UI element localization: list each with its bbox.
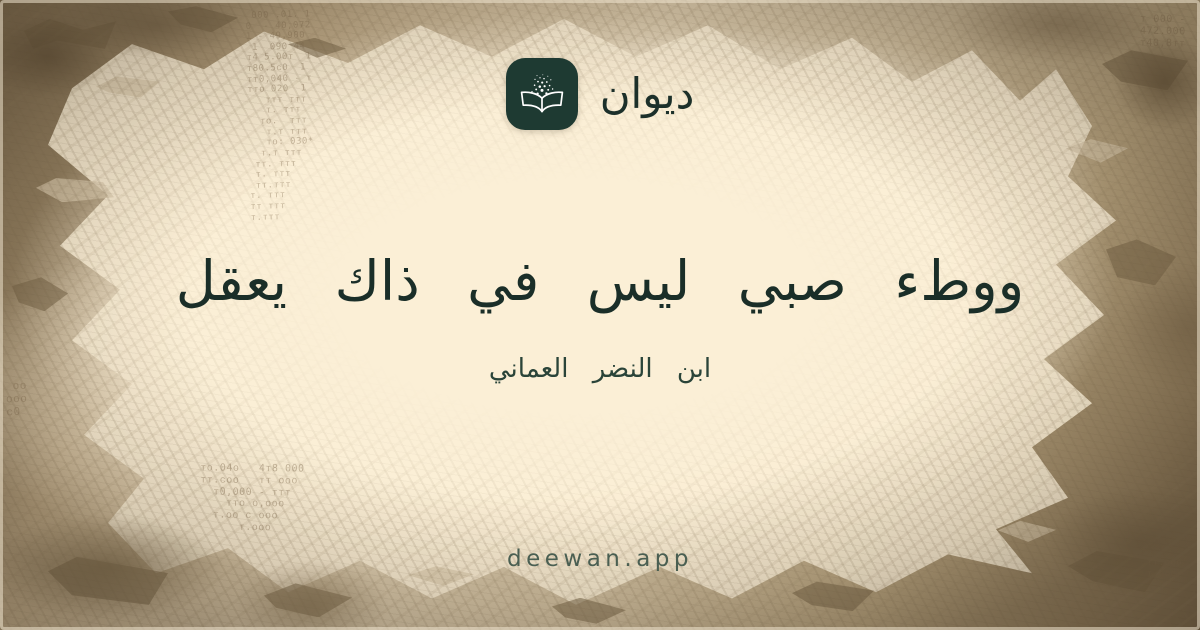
app-logo-badge [506, 58, 578, 130]
open-book-with-sparkles-icon [519, 73, 565, 115]
card-content: ديوان ووطء صبي ليس في ذاك يعقل ابن النضر… [0, 0, 1200, 630]
poem-share-card: 1 .01. 000 40,072 - 0 49,900 - 1 44 090 … [0, 0, 1200, 630]
brand-lockup: ديوان [506, 58, 695, 130]
poem-author: ابن النضر العماني [489, 354, 711, 384]
app-name: ديوان [600, 73, 695, 115]
poem-verse: ووطء صبي ليس في ذاك يعقل [50, 246, 1150, 316]
